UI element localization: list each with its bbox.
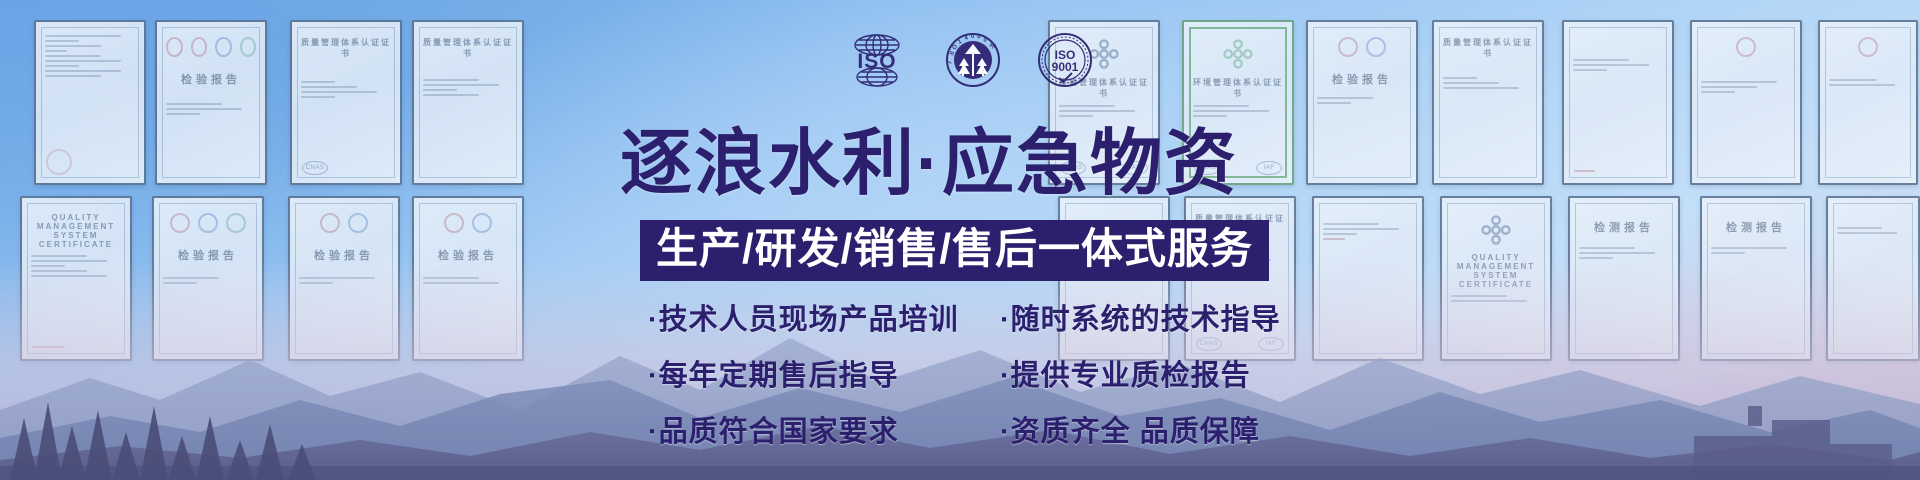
certificate-thumbnail: 检验报告: [155, 20, 267, 185]
list-item: ·提供专业质检报告: [1000, 352, 1281, 394]
promotional-banner: 检验报告 质量管理体系认证证书 CNAS 质量管理体系认证证书: [0, 0, 1920, 480]
iaf-oval-icon: IAF: [1256, 161, 1282, 175]
atom-emblem-icon: [1223, 39, 1253, 69]
svg-text:ISO: ISO: [857, 50, 896, 73]
certificate-thumbnail: [1818, 20, 1918, 185]
page-title: 逐浪水利·应急物资: [620, 104, 1238, 209]
cma-badge-icon: [191, 37, 208, 57]
certificate-thumbnail: 检验报告: [1306, 20, 1418, 185]
cqc-badge-icon: [320, 213, 340, 233]
cqc-badge-icon: [1858, 37, 1878, 57]
list-item: ·随时系统的技术指导: [1000, 296, 1281, 338]
cqc-badge-icon: [444, 213, 464, 233]
iso-badge-icon: [226, 213, 246, 233]
cert-text-line: [1574, 170, 1595, 172]
svg-text:9001: 9001: [1052, 60, 1079, 74]
subtitle-banner: 生产/研发/销售/售后一体式服务: [640, 220, 1269, 281]
cqc-badge-icon: [170, 213, 190, 233]
list-item: ·每年定期售后指导: [648, 352, 978, 394]
list-item: ·品质符合国家要求: [648, 408, 978, 450]
cert-footer: CNAS: [302, 161, 390, 175]
iso-globe-logo-icon: ISO: [845, 32, 909, 88]
cnas-badge-icon: [198, 213, 218, 233]
iso14000-environment-logo-icon: I S O 1 4 0 0 0 环: [945, 32, 1001, 88]
certificate-border: [1569, 27, 1667, 178]
cqc-badge-icon: [1736, 37, 1756, 57]
certificate-border: [1439, 27, 1537, 178]
certificate-border: [297, 27, 395, 178]
cert-accreditation-badges: [163, 213, 253, 233]
certificate-border: [419, 27, 517, 178]
cnas-badge-icon: [348, 213, 368, 233]
svg-text:0: 0: [982, 37, 988, 44]
certificate-thumbnail: [1690, 20, 1802, 185]
svg-text:4: 4: [964, 35, 969, 42]
certificate-thumbnail: [1562, 20, 1674, 185]
certificate-border: [1313, 27, 1411, 178]
certificate-thumbnail: [34, 20, 146, 185]
list-item: ·技术人员现场产品培训: [648, 296, 978, 338]
atom-emblem-icon: [1089, 39, 1119, 69]
certification-logo-row: ISO: [845, 32, 1093, 88]
cnas-badge-icon: [472, 213, 492, 233]
cert-footer: [46, 149, 134, 175]
iso-badge-icon: [240, 37, 257, 57]
certificate-thumbnail: 质量管理体系认证证书: [412, 20, 524, 185]
cnas-badge-icon: [1366, 37, 1386, 57]
iso9001-seal-logo-icon: ISO 9001: [1037, 32, 1093, 88]
certificate-thumbnail: 质量管理体系认证证书: [1432, 20, 1544, 185]
cnas-badge-icon: [215, 37, 232, 57]
certificate-thumbnail: 质量管理体系认证证书 CNAS: [290, 20, 402, 185]
list-item: ·资质齐全 品质保障: [1000, 408, 1281, 450]
cma-badge-icon: [1338, 37, 1358, 57]
atom-emblem-icon: [1481, 215, 1511, 245]
feature-bullet-list: ·技术人员现场产品培训 ·随时系统的技术指导 ·每年定期售后指导 ·提供专业质检…: [648, 296, 1281, 450]
cqc-badge-icon: [166, 37, 183, 57]
cert-footer: [1574, 167, 1662, 175]
cnas-oval-icon: CNAS: [302, 161, 328, 175]
seal-stamp-icon: [46, 149, 72, 175]
svg-text:I: I: [947, 60, 953, 65]
